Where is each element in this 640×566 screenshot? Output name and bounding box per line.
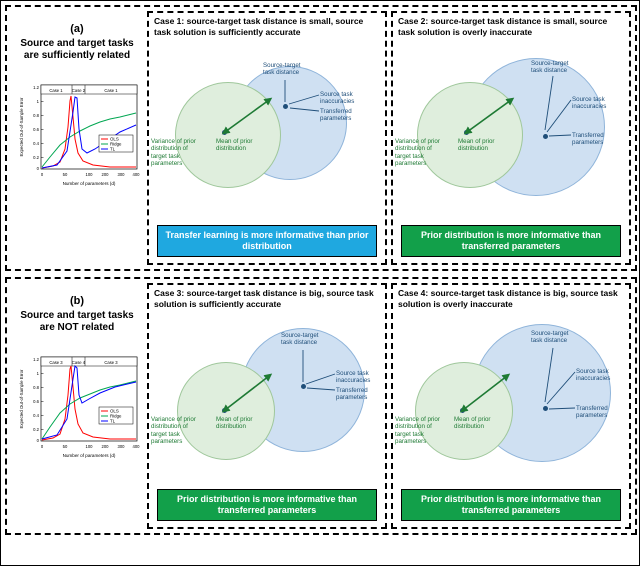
panel-b-chart: 1.2 1 0.8 0.6 0.4 0.2 0 bbox=[15, 349, 143, 467]
label-source-task-inaccuracies: Source task inaccuracies bbox=[576, 368, 630, 383]
svg-text:200: 200 bbox=[102, 444, 110, 449]
case-3-title: Case 3: source-target task distance is b… bbox=[149, 285, 385, 310]
svg-text:0.2: 0.2 bbox=[33, 155, 39, 160]
label-mean-prior: Mean of prior distribution bbox=[454, 416, 504, 431]
svg-text:0.2: 0.2 bbox=[33, 427, 39, 432]
figure-root: (a) Source and target tasks are sufficie… bbox=[0, 0, 640, 566]
svg-text:1.2: 1.2 bbox=[33, 85, 39, 90]
panel-a-caption: Source and target tasks are sufficiently… bbox=[9, 38, 145, 62]
svg-text:300: 300 bbox=[118, 172, 126, 177]
panel-b: (b) Source and target tasks are NOT rela… bbox=[5, 277, 637, 535]
panel-a-chart-svg: 1.2 1 0.8 0.6 0.4 0.2 0 bbox=[15, 77, 143, 195]
case-4-banner: Prior distribution is more informative t… bbox=[401, 489, 621, 521]
svg-text:Case 1: Case 1 bbox=[49, 88, 63, 93]
svg-text:100: 100 bbox=[86, 172, 94, 177]
panel-b-left-column: (b) Source and target tasks are NOT rela… bbox=[9, 281, 145, 535]
svg-text:0.6: 0.6 bbox=[33, 127, 39, 132]
case-2-banner: Prior distribution is more informative t… bbox=[401, 225, 621, 257]
label-mean-prior: Mean of prior distribution bbox=[458, 138, 508, 153]
case-2-box: Case 2: source-target task distance is s… bbox=[391, 11, 631, 265]
label-mean-prior: Mean of prior distribution bbox=[216, 416, 266, 431]
label-source-target-distance: Source-target task distance bbox=[531, 60, 591, 75]
svg-text:Case 2: Case 2 bbox=[72, 88, 86, 93]
case-4-title: Case 4: source-target task distance is b… bbox=[393, 285, 629, 310]
label-source-task-inaccuracies: Source task inaccuracies bbox=[320, 91, 386, 106]
svg-text:0: 0 bbox=[41, 172, 44, 177]
label-transferred-parameters: Transferred parameters bbox=[320, 108, 380, 123]
label-mean-prior: Mean of prior distribution bbox=[216, 138, 266, 153]
label-transferred-parameters: Transferred parameters bbox=[336, 387, 390, 402]
svg-text:Expected Out-of-Sample Error: Expected Out-of-Sample Error bbox=[19, 97, 24, 157]
svg-text:0.8: 0.8 bbox=[33, 113, 39, 118]
panel-b-chart-svg: 1.2 1 0.8 0.6 0.4 0.2 0 bbox=[15, 349, 143, 467]
panel-a-letter: (a) bbox=[9, 23, 145, 35]
panel-b-caption: Source and target tasks are NOT related bbox=[9, 310, 145, 334]
case-1-box: Case 1: source-target task distance is s… bbox=[147, 11, 387, 265]
svg-text:0.4: 0.4 bbox=[33, 141, 39, 146]
svg-text:400: 400 bbox=[133, 172, 141, 177]
svg-text:1: 1 bbox=[37, 99, 40, 104]
svg-text:0: 0 bbox=[37, 438, 40, 443]
label-source-target-distance: Source-target task distance bbox=[281, 332, 341, 347]
label-source-task-inaccuracies: Source task inaccuracies bbox=[336, 370, 390, 385]
panel-b-letter: (b) bbox=[9, 295, 145, 307]
svg-text:Case 3: Case 3 bbox=[104, 360, 118, 365]
svg-text:0: 0 bbox=[41, 444, 44, 449]
svg-text:Case 1: Case 1 bbox=[104, 88, 118, 93]
case-1-banner: Transfer learning is more informative th… bbox=[157, 225, 377, 257]
label-source-target-distance: Source-target task distance bbox=[531, 330, 591, 345]
case-1-title: Case 1: source-target task distance is s… bbox=[149, 13, 385, 38]
svg-text:100: 100 bbox=[86, 444, 94, 449]
label-transferred-parameters: Transferred parameters bbox=[576, 405, 630, 420]
panel-a-left-column: (a) Source and target tasks are sufficie… bbox=[9, 9, 145, 271]
case-3-box: Case 3: source-target task distance is b… bbox=[147, 283, 387, 529]
panel-a: (a) Source and target tasks are sufficie… bbox=[5, 5, 637, 271]
svg-text:1: 1 bbox=[37, 371, 40, 376]
label-variance-prior: Variance of prior distribution of target… bbox=[395, 416, 451, 446]
svg-text:TL: TL bbox=[110, 147, 116, 152]
case-4-box: Case 4: source-target task distance is b… bbox=[391, 283, 631, 529]
svg-text:50: 50 bbox=[63, 172, 68, 177]
svg-text:Case 4: Case 4 bbox=[72, 360, 86, 365]
svg-text:0.8: 0.8 bbox=[33, 385, 39, 390]
svg-text:0.6: 0.6 bbox=[33, 399, 39, 404]
label-variance-prior: Variance of prior distribution of target… bbox=[151, 138, 207, 168]
svg-text:Case 3: Case 3 bbox=[49, 360, 63, 365]
label-source-target-distance: Source-target task distance bbox=[263, 62, 323, 77]
svg-text:Expected Out-of-Sample Error: Expected Out-of-Sample Error bbox=[19, 369, 24, 429]
svg-text:Number of parameters (d): Number of parameters (d) bbox=[63, 453, 116, 458]
label-source-task-inaccuracies: Source task inaccuracies bbox=[572, 96, 632, 111]
panel-a-chart: 1.2 1 0.8 0.6 0.4 0.2 0 bbox=[15, 77, 143, 195]
case-3-annotation-lines bbox=[149, 310, 389, 510]
svg-text:200: 200 bbox=[102, 172, 110, 177]
case-2-title: Case 2: source-target task distance is s… bbox=[393, 13, 629, 38]
svg-text:400: 400 bbox=[133, 444, 141, 449]
svg-text:0: 0 bbox=[37, 166, 40, 171]
svg-text:300: 300 bbox=[118, 444, 126, 449]
label-variance-prior: Variance of prior distribution of target… bbox=[151, 416, 207, 446]
case-3-banner: Prior distribution is more informative t… bbox=[157, 489, 377, 521]
label-variance-prior: Variance of prior distribution of target… bbox=[395, 138, 451, 168]
svg-text:Number of parameters (d): Number of parameters (d) bbox=[63, 181, 116, 186]
svg-text:1.2: 1.2 bbox=[33, 357, 39, 362]
svg-text:50: 50 bbox=[63, 444, 68, 449]
svg-text:0.4: 0.4 bbox=[33, 413, 39, 418]
label-transferred-parameters: Transferred parameters bbox=[572, 132, 628, 147]
svg-text:TL: TL bbox=[110, 419, 116, 424]
